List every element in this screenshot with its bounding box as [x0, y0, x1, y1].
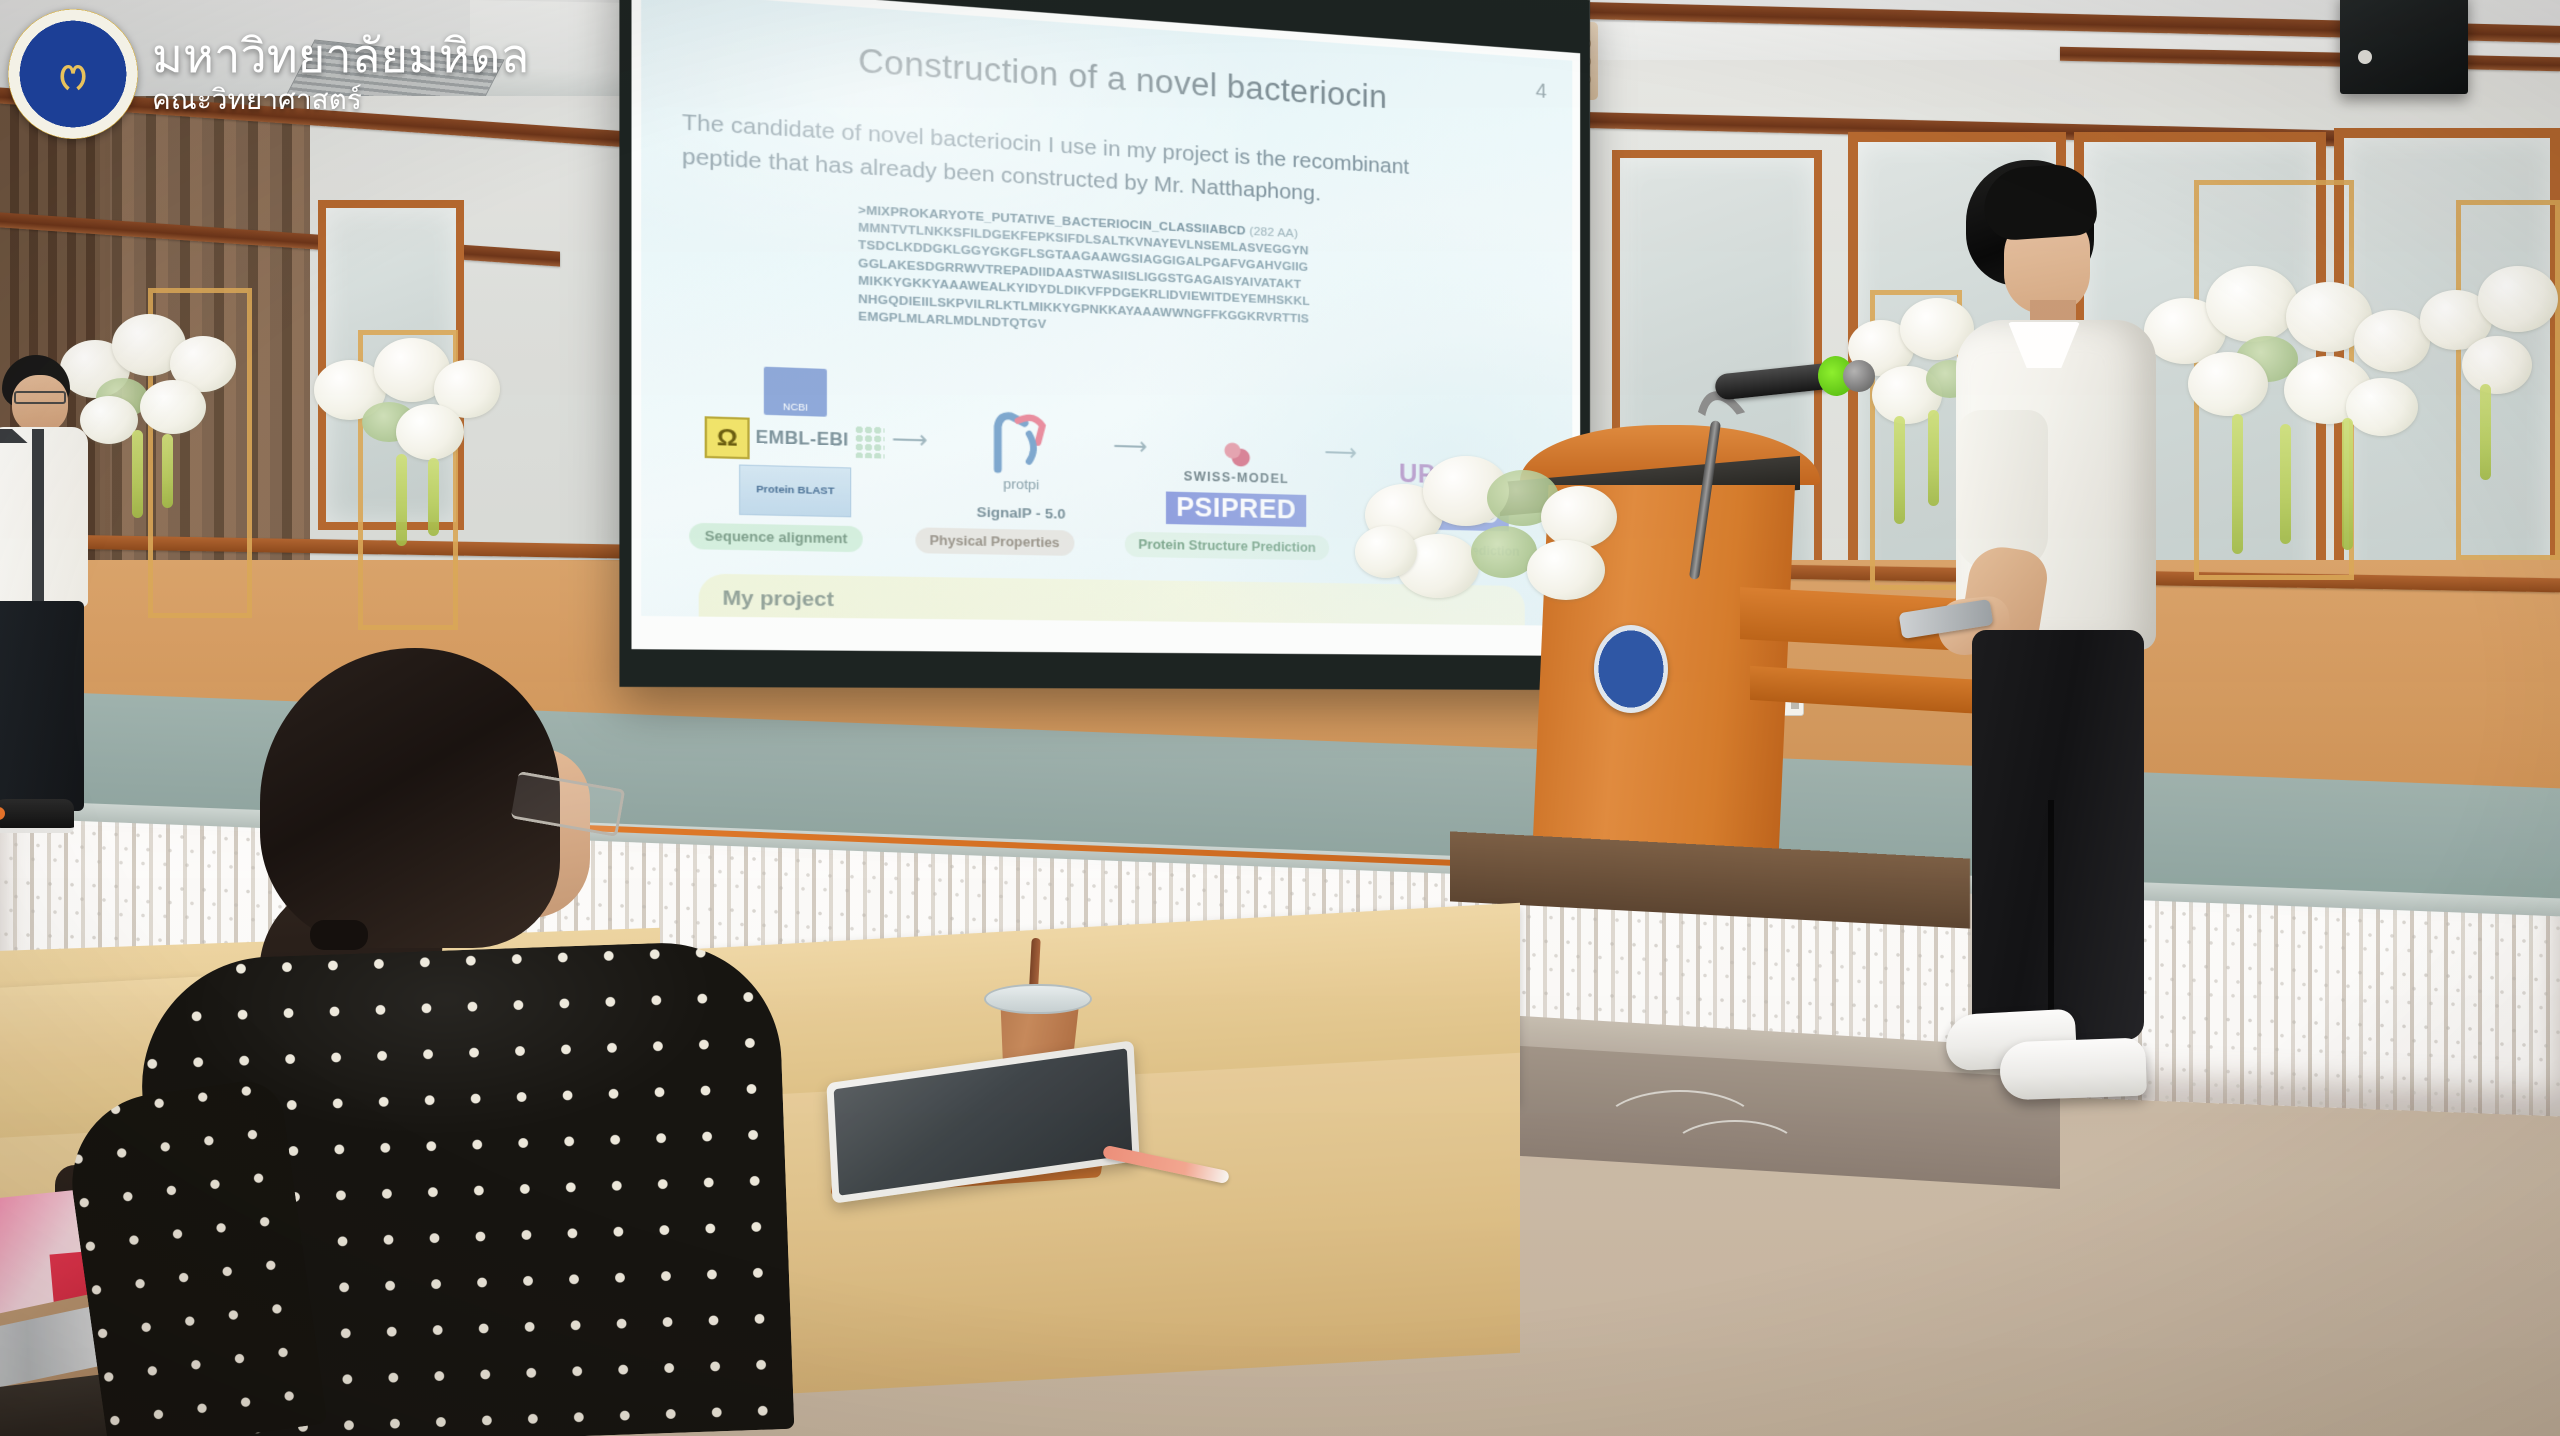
category-physical-properties: Physical Properties [915, 527, 1074, 556]
seated-attendee-foreground [120, 620, 920, 1436]
faculty-name-th: คณะวิทยาศาสตร์ [152, 83, 529, 117]
protpi-graph-icon [973, 404, 1069, 475]
attendee-shirt-placket [32, 429, 44, 605]
clustal-omega-icon: Ω [705, 416, 750, 459]
wall-speaker [2340, 0, 2468, 94]
protpi-logo: protpi [973, 404, 1069, 493]
workflow-arrow-icon: ⟶ [886, 425, 934, 519]
embl-ebi-logo: Ω EMBL-EBI [705, 416, 885, 463]
speaker-driver-icon [2358, 50, 2372, 64]
sequence-length: (282 AA) [1249, 224, 1298, 240]
presenter-sneaker [1999, 1037, 2147, 1100]
standing-attendee-left [0, 355, 118, 865]
slide-title: Construction of a novel bacteriocin [682, 29, 1539, 126]
floor-cable [1670, 1120, 1800, 1180]
conference-presentation-photo: 4 Construction of a novel bacteriocin Th… [0, 0, 2560, 1436]
swiss-model-icon [1223, 440, 1251, 468]
mahidol-university-watermark: ᨻ มหาวิทยาลัยมหิดล คณะวิทยาศาสตร์ [8, 10, 548, 138]
signalp-label: SignalP - 5.0 [976, 504, 1065, 522]
watermark-text: มหาวิทยาลัยมหิดล คณะวิทยาศาสตร์ [152, 32, 529, 117]
cup-lid [984, 984, 1092, 1014]
workflow-step-structure-prediction: SWISS-MODEL PSIPRED [1153, 438, 1319, 527]
embl-hex-icon [854, 425, 884, 458]
workflow-step-sequence-alignment: NCBI Ω EMBL-EBI Protein BLAST [703, 364, 885, 518]
presenter-sleeve [1956, 410, 2048, 570]
psipred-logo: PSIPRED [1166, 491, 1305, 526]
attendee-glasses-icon [14, 391, 66, 404]
protein-sequence-block: >MIXPROKARYOTE_PUTATIVE_BACTERIOCIN_CLAS… [858, 202, 1539, 355]
flower-arrangement-far-right [2420, 250, 2560, 480]
hair-tie [310, 920, 368, 950]
slide-number: 4 [1536, 80, 1547, 104]
category-sequence-alignment: Sequence alignment [689, 522, 862, 552]
attendee-shirt [0, 427, 88, 607]
flower-arrangement-left-2 [300, 330, 550, 560]
protein-blast-logo: Protein BLAST [739, 464, 851, 517]
presenter-at-podium [1880, 160, 2180, 1160]
embl-ebi-label: EMBL-EBI [756, 428, 849, 450]
swiss-model-label: SWISS-MODEL [1184, 469, 1289, 486]
protpi-label: protpi [1003, 475, 1039, 492]
slide-body-text: The candidate of novel bacteriocin I use… [682, 106, 1539, 222]
ncbi-logo-icon: NCBI [764, 366, 827, 416]
podium-flower-arrangement [1355, 430, 1645, 620]
crest-glyph: ᨻ [44, 37, 102, 111]
category-structure-prediction: Protein Structure Prediction [1124, 531, 1329, 560]
university-name-th: มหาวิทยาลัยมหิดล [152, 32, 529, 79]
mahidol-crest-icon: ᨻ [8, 9, 138, 139]
attendee-trousers [0, 601, 84, 811]
presenter-trousers [1972, 630, 2144, 1040]
attendee-shoe [0, 799, 74, 833]
workflow-arrow-icon: ⟶ [1107, 432, 1153, 524]
attendee-face [12, 375, 68, 433]
podium-crest-icon [1594, 625, 1668, 713]
workflow-step-physical-properties: protpi SignalP - 5.0 [934, 403, 1108, 523]
microphone-capsule-icon [1843, 360, 1875, 392]
